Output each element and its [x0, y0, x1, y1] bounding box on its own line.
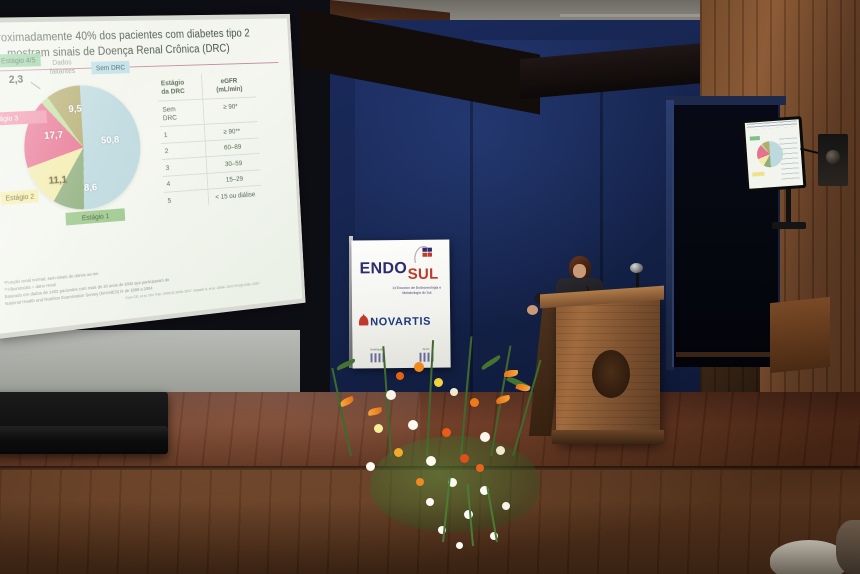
- cell-stage: 1: [160, 125, 205, 143]
- cell-stage: Sem DRC: [158, 100, 204, 126]
- sofa-texture: [0, 392, 168, 454]
- flower-bloom: [426, 498, 434, 506]
- auditorium-photo: proximadamente 40% dos pacientes com dia…: [0, 0, 860, 574]
- flower-bloom: [426, 456, 436, 466]
- leader-line: [31, 82, 41, 89]
- flower-bloom: [470, 398, 479, 407]
- flower-bloom: [442, 428, 451, 437]
- microphone-icon: [630, 263, 643, 273]
- flower-leaf: [336, 358, 356, 370]
- flower-bloom: [396, 372, 404, 380]
- endo-sul-logo-icon: [411, 245, 433, 265]
- pie-value-dados-faltantes: 9,5: [68, 103, 82, 115]
- bird-of-paradise-bloom: [495, 395, 510, 404]
- bird-of-paradise-bloom: [368, 407, 383, 416]
- flower-bloom: [502, 502, 510, 510]
- flower-arrangement: [330, 336, 570, 574]
- legend-sem-drc: Sem DRC: [91, 61, 130, 75]
- monitor-slide-title: [747, 120, 797, 129]
- legend-dados-faltantes: Dados faltantes: [41, 56, 83, 78]
- flower-bloom: [476, 464, 484, 472]
- flower-stem: [331, 368, 351, 456]
- stage-sofa: [0, 392, 168, 454]
- banner-sponsor: NOVARTIS: [370, 316, 431, 329]
- flower-stem: [382, 346, 391, 456]
- cell-stage: 2: [161, 141, 206, 159]
- drc-stage-table: Estágio da DRC eGFR (mL/min) Sem DRC ≥ 9…: [157, 72, 262, 209]
- monitor-table: [779, 137, 800, 180]
- pie-value-estagio1: 8,6: [84, 181, 98, 193]
- table-header-egfr: eGFR (mL/min): [202, 72, 257, 99]
- camera-lens-icon: [826, 150, 840, 164]
- banner-title-endo: ENDO: [360, 260, 408, 278]
- speaker-hand: [527, 305, 538, 315]
- bird-of-paradise-bloom: [515, 382, 531, 393]
- pie-value-estagio45: 2,3: [8, 74, 23, 86]
- bird-of-paradise-bloom: [339, 396, 355, 407]
- cell-egfr: ≥ 90*: [203, 98, 258, 124]
- flower-bloom: [434, 378, 443, 387]
- door-header: [666, 96, 786, 105]
- presentation-slide: proximadamente 40% dos pacientes com dia…: [0, 18, 302, 333]
- pie-value-estagio3: 17,7: [44, 129, 64, 142]
- pie-value-sem-drc: 50,8: [101, 134, 120, 146]
- flower-bloom: [496, 446, 505, 455]
- flower-bloom: [386, 390, 396, 400]
- flower-bloom: [456, 542, 463, 549]
- banner-subtitle: XI Encontro de Endocrinologia e Metabolo…: [386, 286, 448, 297]
- sofa-seat: [0, 426, 168, 442]
- door-sill: [676, 352, 780, 357]
- flower-bloom: [408, 420, 418, 430]
- flower-leaf: [480, 355, 502, 370]
- left-wall: [0, 330, 300, 396]
- projection-screen: proximadamente 40% dos pacientes com dia…: [0, 14, 306, 339]
- flower-bloom: [450, 388, 458, 396]
- monitor-screen: [745, 119, 803, 189]
- monitor-badge-yellow: [752, 172, 764, 177]
- flower-bloom: [374, 424, 383, 433]
- flower-bloom: [460, 454, 469, 463]
- audience-head-secondary: [836, 520, 860, 574]
- novartis-logo-icon: [358, 314, 369, 327]
- pie-graphic: [21, 83, 144, 213]
- monitor-base: [772, 222, 806, 229]
- pie-chart: 50,8 9,5 17,7 11,1 8,6 2,3: [0, 77, 158, 231]
- monitor-badge-green: [750, 136, 760, 141]
- cell-stage: 5: [164, 190, 209, 209]
- flower-bloom: [414, 362, 424, 372]
- flower-bloom: [480, 432, 490, 442]
- podium-emblem: [592, 350, 630, 398]
- legend-estagio45: Estágio 4/5: [0, 53, 40, 67]
- cell-egfr: ≥ 90**: [205, 122, 259, 140]
- flower-bloom: [416, 478, 424, 486]
- stage-chair: [770, 297, 830, 373]
- confidence-monitor[interactable]: [742, 116, 807, 192]
- flower-bloom: [366, 462, 375, 471]
- bird-of-paradise-bloom: [504, 370, 518, 377]
- cell-egfr: < 15 ou diálise: [208, 186, 262, 205]
- banner-title-sul: SUL: [408, 266, 439, 283]
- cell-stage: 3: [162, 158, 207, 176]
- pie-value-estagio2: 11,1: [48, 174, 67, 187]
- table-header-stage: Estágio da DRC: [157, 74, 203, 101]
- speaker-face: [573, 264, 586, 278]
- flower-bloom: [394, 448, 403, 457]
